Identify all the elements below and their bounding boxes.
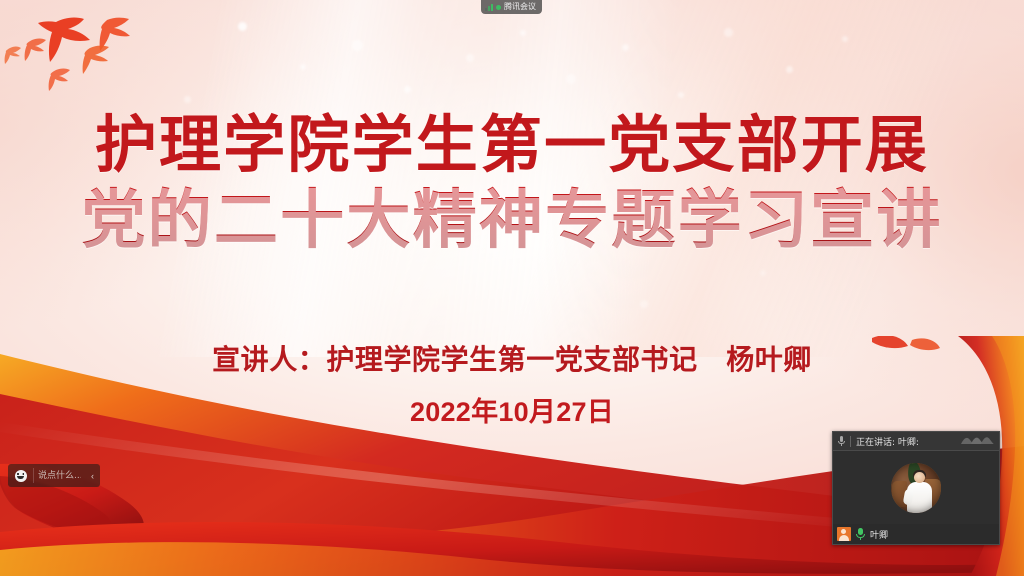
video-tile-header: 正在讲话: 叶卿: <box>833 432 999 451</box>
microphone-unmuted-icon[interactable] <box>855 528 866 541</box>
divider <box>850 436 851 447</box>
slide-title-line-1: 护理学院学生第一党支部开展 <box>0 112 1024 180</box>
chat-message-input[interactable] <box>34 464 85 487</box>
participant-name-label: 叶卿 <box>870 528 888 541</box>
participant-video-tile[interactable]: 正在讲话: 叶卿: <box>832 431 1000 545</box>
microphone-icon <box>838 436 845 447</box>
meeting-app-label: 腾讯会议 <box>504 0 536 14</box>
active-speaker-label: 正在讲话: 叶卿: <box>856 435 955 448</box>
video-tile-footer: 叶卿 <box>833 524 999 544</box>
smiley-face-icon <box>15 470 27 482</box>
chat-input-bar[interactable]: ‹ <box>8 464 100 487</box>
host-person-icon <box>837 527 851 541</box>
recording-status-dot <box>496 5 501 10</box>
video-tile-body[interactable] <box>833 451 999 524</box>
participant-avatar-photo <box>891 463 941 513</box>
tencent-meeting-status-pill[interactable]: 腾讯会议 <box>481 0 542 14</box>
audio-wave-icon <box>960 432 994 450</box>
chevron-left-icon[interactable]: ‹ <box>85 464 100 487</box>
signal-bars-icon <box>485 4 493 11</box>
emoji-picker-button[interactable] <box>8 464 33 487</box>
shared-screen-slide: 护理学院学生第一党支部开展 党的二十大精神专题学习宣讲 宣讲人：护理学院学生第一… <box>0 0 1024 576</box>
slide-title-line-2: 党的二十大精神专题学习宣讲 <box>0 186 1024 256</box>
